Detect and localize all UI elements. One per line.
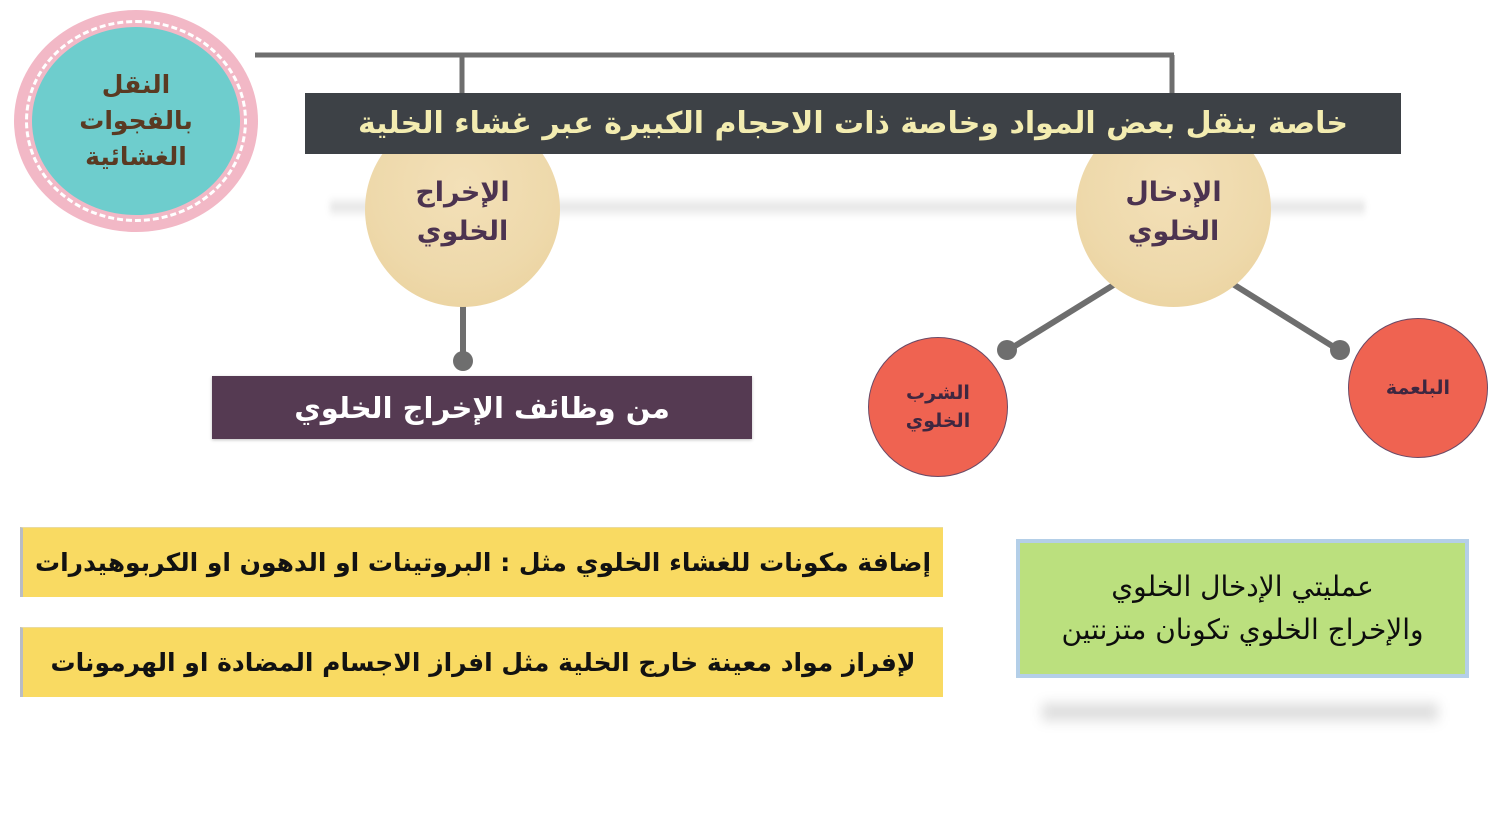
note-box-text: عمليتي الإدخال الخلوي والإخراج الخلوي تك… xyxy=(1038,566,1447,651)
node-phagocytosis[interactable]: البلعمة xyxy=(1348,318,1488,458)
function-item-2: لإفراز مواد معينة خارج الخلية مثل افراز … xyxy=(20,627,943,697)
function-item-1: إضافة مكونات للغشاء الخلوي مثل : البروتي… xyxy=(20,527,943,597)
node-exocytosis-label: الإخراج الخلوي xyxy=(375,174,551,251)
note-box-balance: عمليتي الإدخال الخلوي والإخراج الخلوي تك… xyxy=(1016,539,1469,678)
node-endocytosis-label: الإدخال الخلوي xyxy=(1086,174,1262,251)
root-disc: النقل بالفجوات الغشائية xyxy=(32,27,240,215)
connector-endocytosis-to-pinocytosis xyxy=(1010,281,1120,349)
node-pinocytosis-label: الشرب الخلوي xyxy=(880,379,996,436)
node-phagocytosis-label: البلعمة xyxy=(1360,374,1476,403)
note-box-line-1: عمليتي الإدخال الخلوي xyxy=(1038,566,1447,609)
node-root-membrane-transport[interactable]: النقل بالفجوات الغشائية xyxy=(14,10,258,232)
note-box-line-2: والإخراج الخلوي تكونان متزنتين xyxy=(1038,609,1447,652)
connector-dot-phagocytosis xyxy=(1330,340,1350,360)
node-pinocytosis[interactable]: الشرب الخلوي xyxy=(868,337,1008,477)
connector-dot-functions xyxy=(453,351,473,371)
diagram-canvas: النقل بالفجوات الغشائية خاصة بنقل بعض ال… xyxy=(0,0,1500,839)
node-root-label: النقل بالفجوات الغشائية xyxy=(42,67,229,176)
banner-description: خاصة بنقل بعض المواد وخاصة ذات الاحجام ا… xyxy=(305,93,1401,154)
connector-dot-pinocytosis xyxy=(997,340,1017,360)
note-box-shadow xyxy=(1042,703,1438,721)
connector-endocytosis-to-phagocytosis xyxy=(1228,281,1337,349)
header-exocytosis-functions: من وظائف الإخراج الخلوي xyxy=(212,376,752,439)
